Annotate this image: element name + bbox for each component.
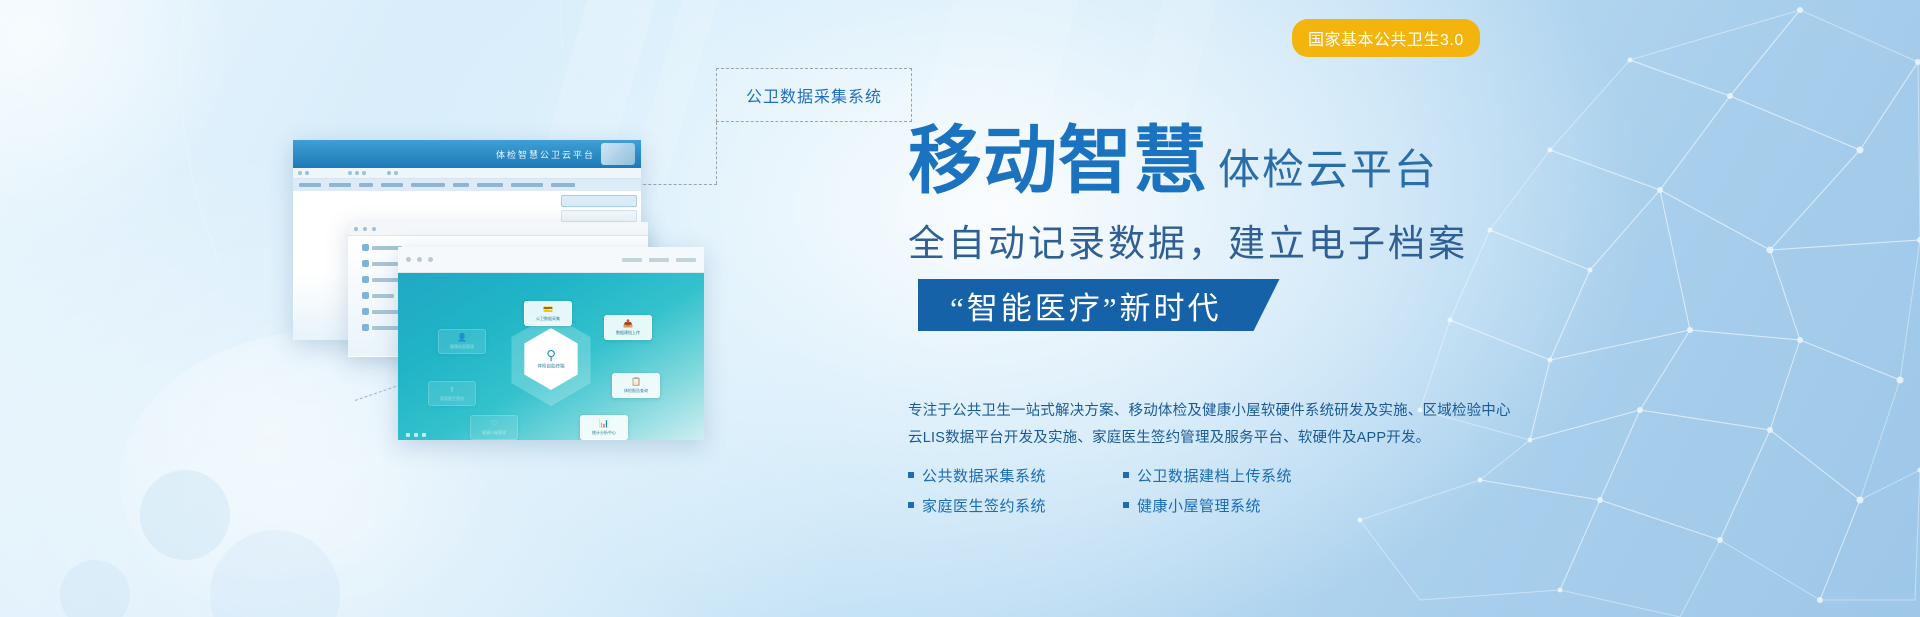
toolbar-icon: [354, 227, 358, 231]
doctor-icon: ⚕: [450, 386, 454, 394]
description-line-1: 专注于公共卫生一站式解决方案、移动体检及健康小屋软硬件系统研发及实施、区域检验中…: [908, 398, 1488, 425]
list-item-label: 家庭医生签约系统: [922, 495, 1046, 516]
circle-decoration: [60, 560, 130, 617]
window-controls: [406, 257, 433, 262]
mockup-toolbar: [293, 168, 641, 179]
nav-tab: [649, 258, 669, 262]
mockup-menu-entry: [362, 292, 394, 299]
toolbar-icon: [363, 227, 367, 231]
maximize-icon: [428, 257, 433, 262]
circle-decoration: [210, 530, 340, 617]
bullet-icon: [1123, 502, 1129, 508]
dashboard-node: 💳 公卫数据采集: [524, 301, 572, 326]
mockup-menu-entry: [362, 244, 402, 251]
description-block: 专注于公共卫生一站式解决方案、移动体检及健康小屋软硬件系统研发及实施、区域检验中…: [908, 398, 1488, 452]
toolbar-icon: [298, 171, 302, 175]
circle-decoration: [140, 470, 230, 560]
mockup-menu-entry: [362, 260, 398, 267]
mockup-front-dashboard: ⚲ 体检自助终端 💳 公卫数据采集 📤 数据建档上传 👤 健康档案管理 ⚕ 家庭…: [398, 247, 704, 440]
nav-tab: [622, 258, 642, 262]
heart-icon: ♡: [490, 420, 497, 428]
list-item[interactable]: 公卫数据建档上传系统: [1123, 460, 1338, 490]
toolbar-icon: [355, 171, 359, 175]
dashboard-node: 👤 健康档案管理: [438, 329, 486, 354]
id-card-icon: 💳: [543, 306, 553, 314]
node-label: 数据建档上传: [616, 330, 640, 336]
feature-bullet-list: 公共数据采集系统 公卫数据建档上传系统 家庭医生签约系统 健康小屋管理系统: [908, 460, 1338, 520]
dashboard-node: 📊 统计分析中心: [580, 415, 628, 440]
dashboard-node: ⚕ 家庭医生签约: [428, 381, 476, 406]
toolbar-icon: [305, 171, 309, 175]
dashboard-node: 📤 数据建档上传: [604, 315, 652, 340]
callout-leader-vertical: [716, 122, 717, 184]
menu-item: [411, 183, 445, 187]
list-item[interactable]: 家庭医生签约系统: [908, 490, 1123, 520]
node-label: 体检报告查询: [624, 388, 648, 394]
list-item-label: 公卫数据建档上传系统: [1137, 465, 1292, 486]
menu-item: [551, 183, 575, 187]
sidebar-row: [561, 195, 637, 207]
menu-item: [299, 183, 321, 187]
toolbar-icon: [387, 171, 391, 175]
mockup-nav-tabs: [622, 258, 696, 262]
close-icon: [406, 257, 411, 262]
minimize-icon: [417, 257, 422, 262]
sidebar-row: [561, 210, 637, 222]
node-label: 家庭医生签约: [440, 396, 464, 402]
headline-row: 移动智慧 体检云平台: [908, 126, 1438, 196]
menu-item: [453, 183, 469, 187]
status-dot: [414, 433, 418, 437]
chart-icon: 📊: [599, 420, 609, 428]
list-item-label: 健康小屋管理系统: [1137, 495, 1261, 516]
avatar: [601, 143, 635, 165]
banner-copy: 移动智慧 体检云平台 国家基本公共卫生3.0 全自动记录数据，建立电子档案 “智…: [908, 0, 1908, 617]
list-item-label: 公共数据采集系统: [922, 465, 1046, 486]
toolbar-icon: [362, 171, 366, 175]
headline-light: 体检云平台: [1218, 150, 1438, 192]
bullet-icon: [908, 502, 914, 508]
node-label: 健康档案管理: [450, 344, 474, 350]
list-item[interactable]: 公共数据采集系统: [908, 460, 1123, 490]
status-dot: [422, 433, 426, 437]
dashboard-node: 📋 体检报告查询: [612, 373, 660, 398]
promo-banner: 公卫数据采集系统 体检智慧公卫云平台: [0, 0, 1920, 617]
mockup-menu-entry: [362, 324, 400, 331]
user-icon: 👤: [457, 334, 467, 342]
report-icon: 📋: [631, 378, 641, 386]
toolbar-icon: [394, 171, 398, 175]
mockup-browser-chrome: [398, 247, 704, 273]
status-dot: [406, 433, 410, 437]
mockup-title-text: 体检智慧公卫云平台: [496, 148, 595, 161]
node-label: 统计分析中心: [592, 430, 616, 436]
dashboard-status-dots: [406, 433, 426, 437]
toolbar-icon: [348, 171, 352, 175]
mockup-mid-toolbar: [348, 222, 648, 236]
menu-item: [381, 183, 403, 187]
callout-label: 公卫数据采集系统: [746, 83, 882, 107]
mockup-titlebar: 体检智慧公卫云平台: [293, 140, 641, 168]
headline-subtitle: 全自动记录数据，建立电子档案: [908, 213, 1468, 267]
upload-icon: 📤: [623, 320, 633, 328]
menu-item: [511, 183, 543, 187]
ribbon-label: “智能医疗”新时代: [950, 283, 1222, 328]
list-item[interactable]: 健康小屋管理系统: [1123, 490, 1338, 520]
menu-item: [329, 183, 351, 187]
description-line-2: 云LIS数据平台开发及实施、家庭医生签约管理及服务平台、软硬件及APP开发。: [908, 425, 1488, 452]
ribbon-banner: “智能医疗”新时代: [918, 279, 1280, 331]
callout-box: 公卫数据采集系统: [716, 68, 912, 122]
dashboard-node: ♡ 健康小屋管理: [470, 415, 518, 440]
node-label: 健康小屋管理: [482, 430, 506, 436]
bullet-icon: [908, 472, 914, 478]
mockup-menubar: [293, 179, 641, 191]
menu-item: [477, 183, 503, 187]
nav-tab: [676, 258, 696, 262]
glow-blob: [0, 0, 240, 260]
headline-bold: 移动智慧: [908, 126, 1208, 196]
status-badge: 国家基本公共卫生3.0: [1292, 19, 1480, 57]
node-label: 公卫数据采集: [536, 316, 560, 322]
bullet-icon: [1123, 472, 1129, 478]
dashboard-hero: ⚲ 体检自助终端 💳 公卫数据采集 📤 数据建档上传 👤 健康档案管理 ⚕ 家庭…: [398, 273, 704, 440]
scan-icon: ⚲: [546, 348, 556, 361]
toolbar-icon: [372, 227, 376, 231]
menu-item: [359, 183, 373, 187]
center-node-label: 体检自助终端: [538, 363, 565, 369]
